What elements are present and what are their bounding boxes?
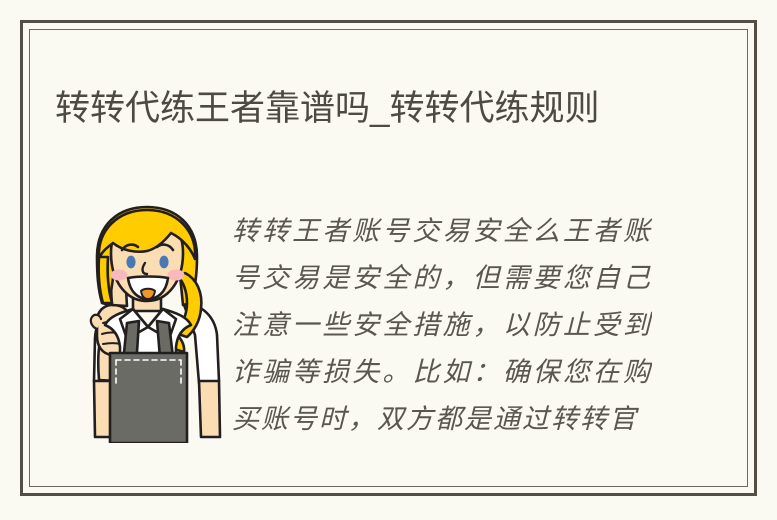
article-content: 转转王者账号交易安全么王者账号交易是安全的，但需要您自己注意一些安全措施，以防止… [31, 196, 746, 456]
article-body-text: 转转王者账号交易安全么王者账号交易是安全的，但需要您自己注意一些安全措施，以防止… [232, 208, 652, 448]
smiling-woman-pointing-up-illustration [75, 205, 225, 443]
article-page: 转转代练王者靠谱吗_转转代练规则 [0, 0, 777, 520]
page-title: 转转代练王者靠谱吗_转转代练规则 [55, 83, 675, 134]
